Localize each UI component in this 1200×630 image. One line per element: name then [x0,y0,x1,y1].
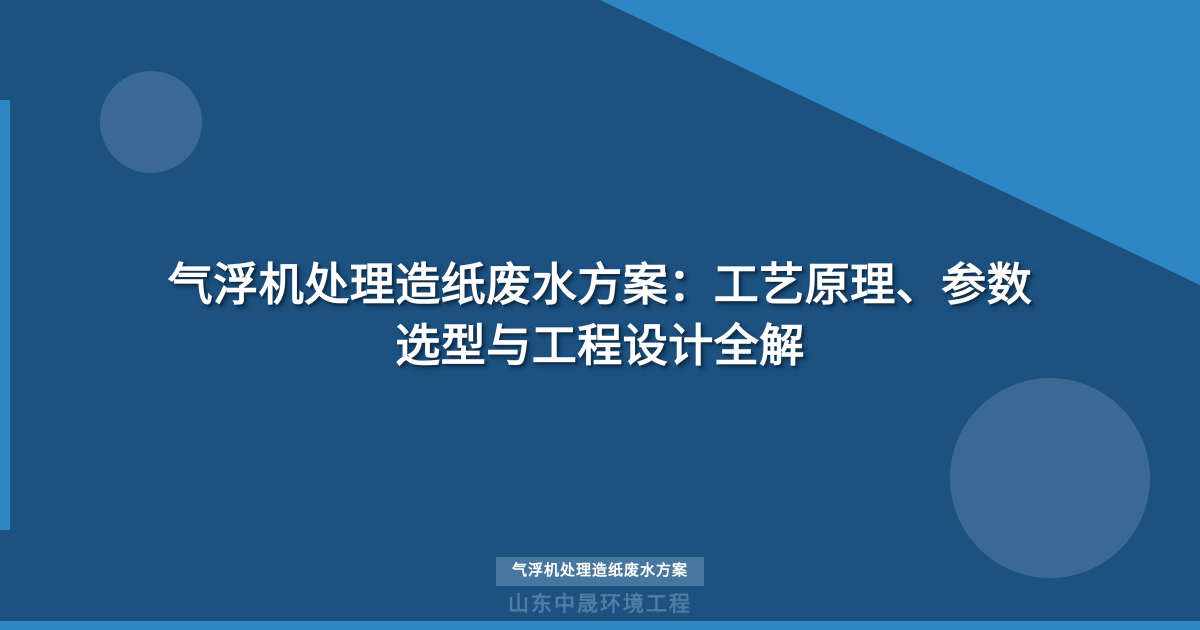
footer-company-watermark: 山东中晟环境工程 [508,592,692,618]
cover-banner: 气浮机处理造纸废水方案：工艺原理、参数 选型与工程设计全解 气浮机处理造纸废水方… [0,0,1200,630]
footer-topic-badge: 气浮机处理造纸废水方案 [496,557,704,586]
page-title-line-2: 选型与工程设计全解 [395,320,805,371]
page-title: 气浮机处理造纸废水方案：工艺原理、参数 选型与工程设计全解 [90,254,1110,376]
footer-block: 气浮机处理造纸废水方案 山东中晟环境工程 [0,557,1200,619]
page-title-line-1: 气浮机处理造纸废水方案：工艺原理、参数 [168,259,1033,310]
title-block: 气浮机处理造纸废水方案：工艺原理、参数 选型与工程设计全解 [0,0,1200,630]
